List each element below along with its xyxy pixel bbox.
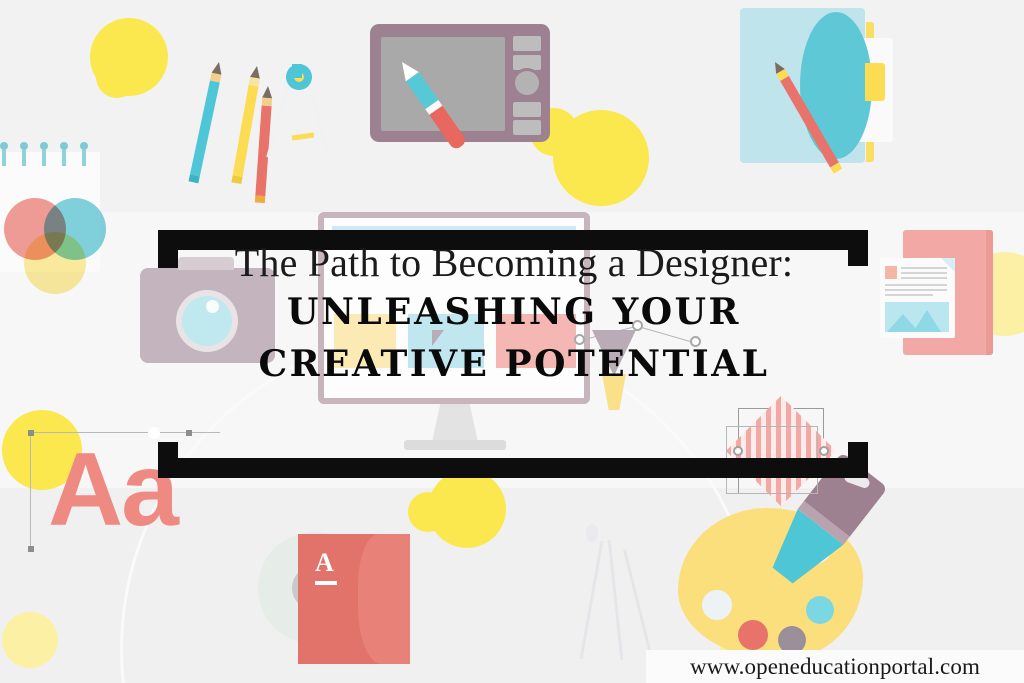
frame-corner-bottomright (848, 442, 868, 478)
banner-title-secondary: UNLEASHING YOUR (158, 286, 870, 338)
title-block: The Path to Becoming a Designer: UNLEASH… (158, 240, 870, 390)
banner-canvas: A Aa (0, 0, 1024, 683)
banner-title-primary: The Path to Becoming a Designer: (158, 240, 870, 286)
frame-bar-bottom (158, 458, 868, 478)
website-url-bar: www.openeducationportal.com (646, 650, 1024, 683)
frame-corner-bottomleft (158, 442, 178, 478)
website-url-text: www.openeducationportal.com (690, 654, 980, 680)
banner-title-tertiary: CREATIVE POTENTIAL (158, 338, 870, 390)
